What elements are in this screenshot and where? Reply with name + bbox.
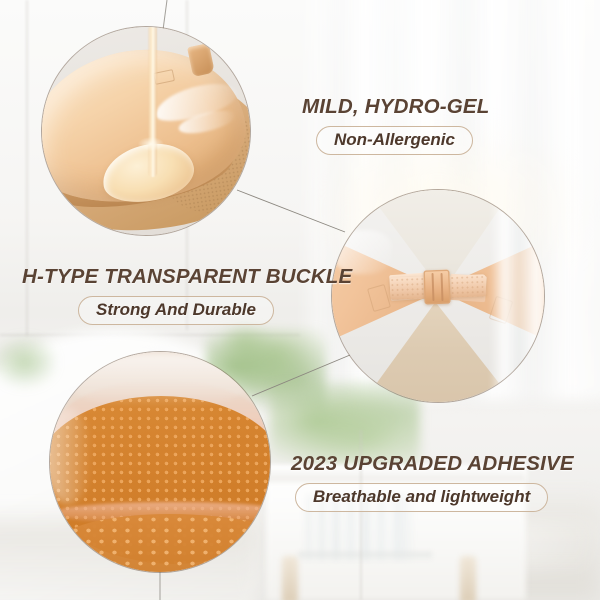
callout-headline: H-TYPE TRANSPARENT BUCKLE	[22, 265, 352, 289]
callout-mild-hydro-gel: MILD, HYDRO-GEL Non-Allergenic	[302, 95, 490, 155]
callout-h-type-transparent-buckle: H-TYPE TRANSPARENT BUCKLE Strong And Dur…	[22, 265, 352, 325]
callout-pill-badge: Strong And Durable	[78, 296, 274, 325]
buckle-photo[interactable]	[332, 190, 544, 402]
vanity-table-leg	[460, 556, 476, 600]
product-infographic: MILD, HYDRO-GEL Non-Allergenic H-TYPE TR…	[0, 0, 600, 600]
gel-pour-photo[interactable]	[42, 27, 250, 235]
gel-stream	[148, 27, 157, 177]
adhesive-lower-flap-dots	[56, 514, 270, 572]
callout-2023-upgraded-adhesive: 2023 UPGRADED ADHESIVE Breathable and li…	[291, 452, 574, 512]
h-type-buckle	[423, 270, 450, 305]
callout-pill-badge: Breathable and lightweight	[295, 483, 548, 512]
callout-headline: MILD, HYDRO-GEL	[302, 95, 490, 119]
window-reflection	[490, 190, 544, 402]
adhesive-photo[interactable]	[50, 352, 270, 572]
gel-splash	[138, 137, 164, 151]
callout-headline: 2023 UPGRADED ADHESIVE	[291, 452, 574, 476]
plant-foliage	[0, 332, 56, 392]
callout-pill-badge: Non-Allergenic	[316, 126, 473, 155]
vanity-table-leg	[282, 556, 298, 600]
glassware-tray	[298, 552, 432, 561]
adhesive-top-sheen	[64, 354, 254, 408]
